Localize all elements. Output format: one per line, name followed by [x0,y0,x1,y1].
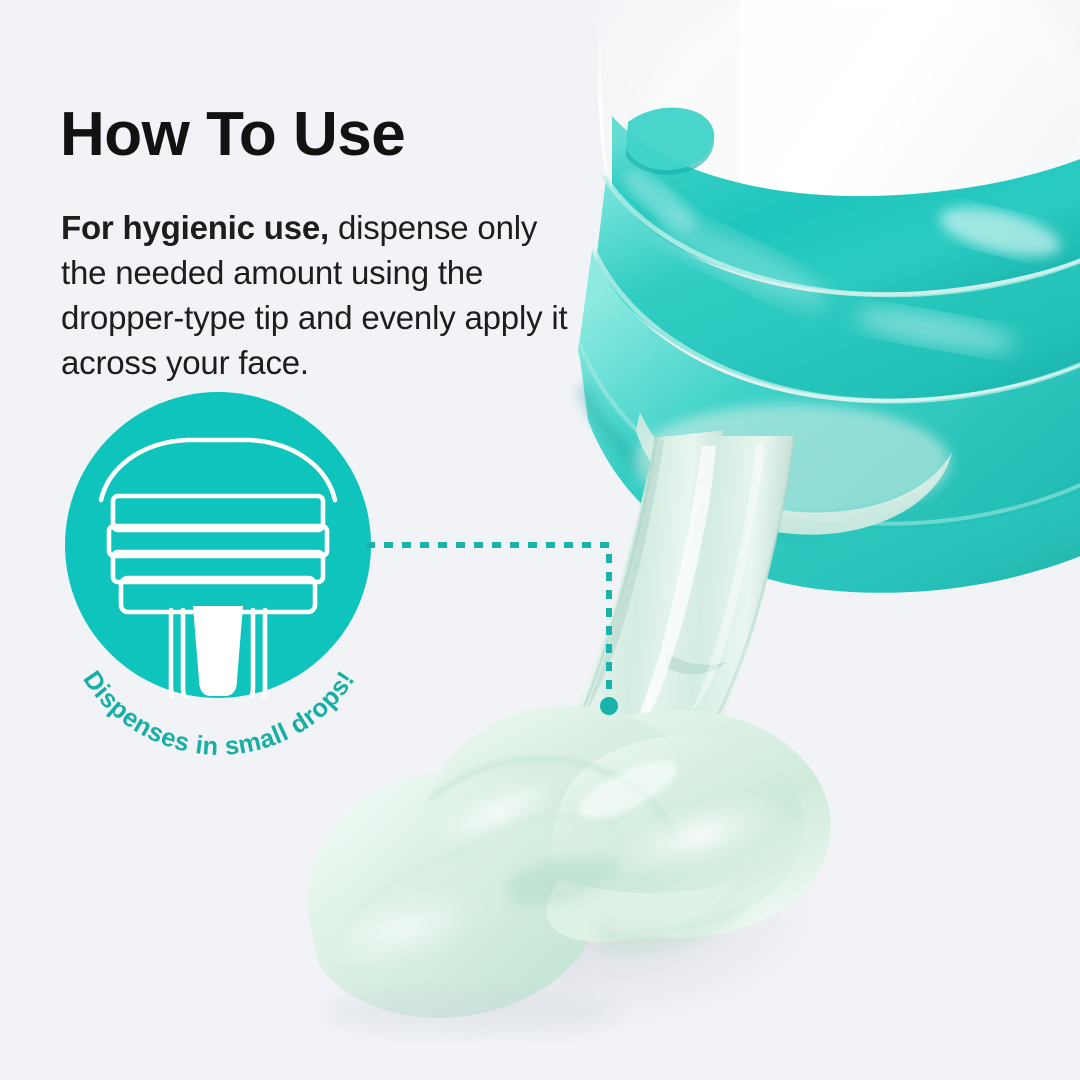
bottle-cap-collar [578,108,1080,593]
dispense-badge: Dispenses in small drops! [65,392,371,698]
page-title: How To Use [60,104,405,166]
callout-endpoint-dot [600,697,618,715]
infographic-canvas: How To Use For hygienic use, dispense on… [0,0,1080,1080]
instruction-lead: For hygienic use, [61,209,329,246]
callout-path [366,545,609,698]
nozzle-base [634,404,952,535]
cream-blob [307,706,831,1036]
badge-caption-text: Dispenses in small drops! [78,666,361,761]
instruction-paragraph: For hygienic use, dispense only the need… [61,205,591,385]
cream-surface-shadow [250,760,890,1060]
badge-caption-textpath: Dispenses in small drops! [78,666,361,761]
bottle-body [598,0,1080,270]
badge-caption: Dispenses in small drops! [43,374,395,734]
dotted-callout-line [360,520,640,730]
cap-drop-shadow [560,0,1080,420]
